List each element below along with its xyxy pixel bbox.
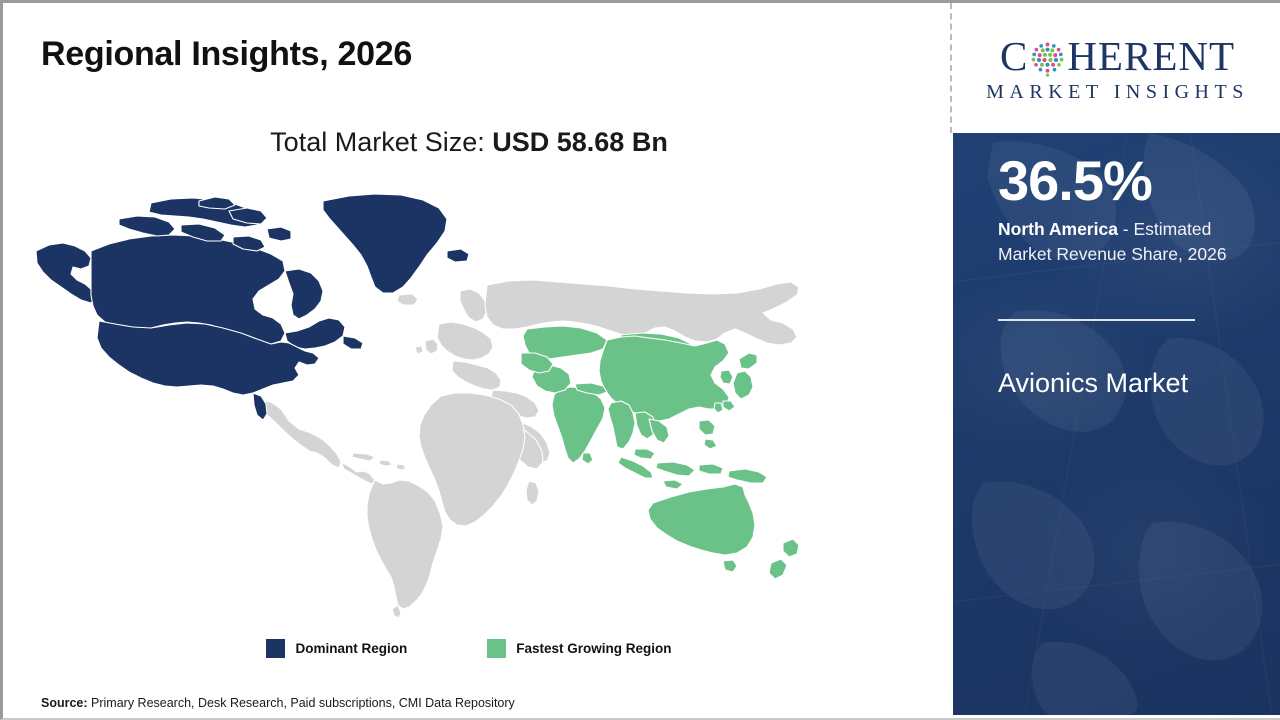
panel-horizontal-rule [998,319,1195,321]
total-market-size: Total Market Size: USD 58.68 Bn [41,127,897,158]
share-percentage: 36.5% [998,153,1152,209]
source-label: Source: [41,696,88,710]
panel-content: 36.5% North America - Estimated Market R… [998,133,1273,715]
panel-divider-dashed [950,3,952,133]
map-region-asia-pacific [521,326,799,579]
market-size-value: USD 58.68 Bn [492,127,668,157]
share-description: North America - Estimated Market Revenue… [998,217,1266,268]
source-note: Source: Primary Research, Desk Research,… [41,696,515,710]
legend-label-dominant: Dominant Region [295,641,407,656]
source-text: Primary Research, Desk Research, Paid su… [88,696,515,710]
logo-word-end: HERENT [1067,36,1235,77]
dotted-globe-icon [1029,40,1066,77]
map-panel: Regional Insights, 2026 Total Market Siz… [3,3,949,717]
infographic-page: Regional Insights, 2026 Total Market Siz… [0,0,1280,720]
share-region-name: North America [998,219,1118,239]
legend-label-fastest-growing: Fastest Growing Region [516,641,671,656]
legend-item-dominant: Dominant Region [266,639,407,658]
map-region-north-america [36,194,469,420]
legend-item-fastest-growing: Fastest Growing Region [487,639,671,658]
highlight-panel: 36.5% North America - Estimated Market R… [953,133,1280,715]
brand-logo: C [955,6,1280,133]
world-map-container [23,181,913,621]
logo-word-start: C [1000,36,1028,77]
page-title: Regional Insights, 2026 [41,35,412,74]
logo-subtitle: MARKET INSIGHTS [986,81,1249,104]
world-map-svg [23,181,913,621]
legend-swatch-dominant [266,639,285,658]
market-name: Avionics Market [998,361,1266,406]
market-size-label: Total Market Size: [270,127,492,157]
map-legend: Dominant Region Fastest Growing Region [41,639,897,658]
logo-wordmark: C [1000,36,1235,77]
legend-swatch-fastest-growing [487,639,506,658]
